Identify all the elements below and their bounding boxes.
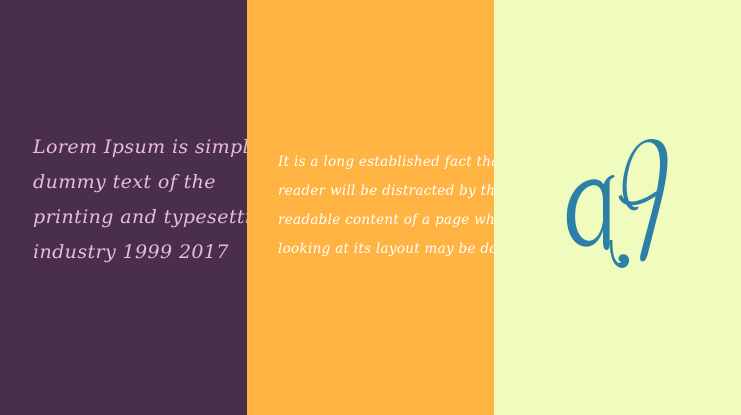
sample-line: Lorem Ipsum is simply [33,130,228,165]
long-established-fact-panel: It is a long established fact that a rea… [247,0,494,415]
sample-line: It is a long established fact that a [278,148,478,177]
sample-line: dummy text of the [33,165,228,200]
sample-line: printing and typesetting [33,200,228,235]
font-specimen-preview: Lorem Ipsum is simply dummy text of the … [0,0,741,415]
sample-line: reader will be distracted by the [278,177,478,206]
glyph-pair-aA [494,133,741,273]
glyph-pair-panel [494,0,741,415]
long-established-fact-sample-text: It is a long established fact that a rea… [278,148,478,264]
lorem-ipsum-panel: Lorem Ipsum is simply dummy text of the … [0,0,247,415]
sample-line: readable content of a page when [278,206,478,235]
lorem-ipsum-sample-text: Lorem Ipsum is simply dummy text of the … [33,130,228,270]
sample-line: industry 1999 2017 [33,235,228,270]
sample-line: looking at its layout may be doing [278,235,478,264]
